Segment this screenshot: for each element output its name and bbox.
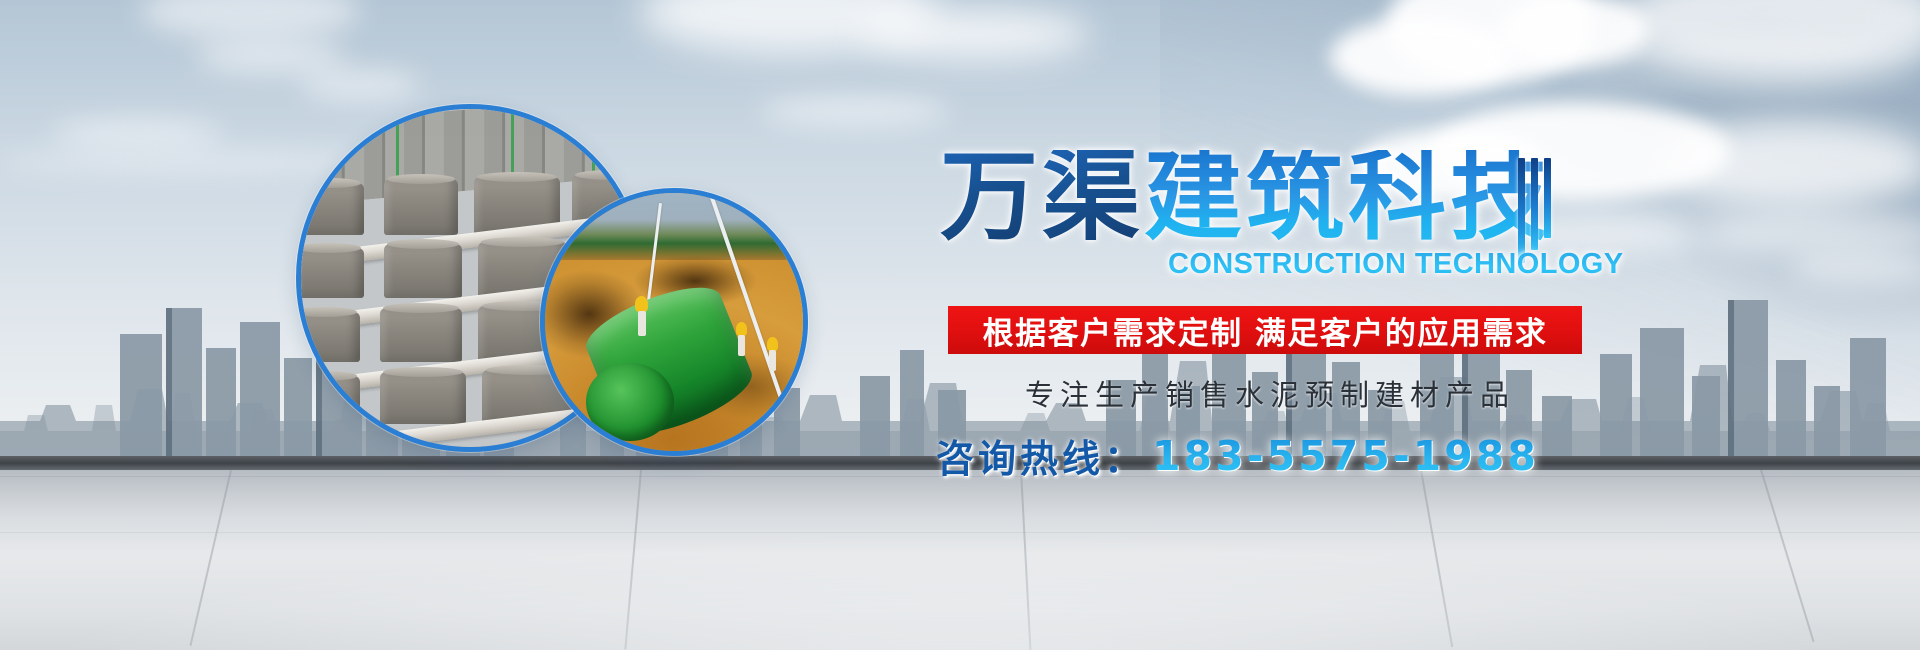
- promo-banner: 万 渠 建 筑 科 技 CONSTRUCTION TECHNOLOGY 根据客户…: [0, 0, 1920, 650]
- tank-end-cap: [586, 363, 674, 440]
- red-highlight-banner: 根据客户需求定制 满足客户的应用需求: [948, 306, 1582, 354]
- title-char-2: 渠: [1040, 150, 1142, 244]
- hotline-number[interactable]: 183-5575-1988: [1152, 432, 1539, 480]
- red-banner-text: 根据客户需求定制 满足客户的应用需求: [983, 308, 1548, 353]
- worker-right-b: [767, 337, 778, 371]
- title-char-1: 万: [938, 150, 1040, 244]
- photo-circle-installation[interactable]: [540, 188, 808, 456]
- hotline-block: 咨询热线： 183-5575-1988: [936, 428, 1539, 483]
- brand-title: 万 渠 建 筑 科 技: [938, 150, 1550, 244]
- title-char-3: 建: [1142, 150, 1244, 244]
- worker-on-tank: [635, 296, 648, 336]
- title-char-4: 筑: [1244, 150, 1346, 244]
- title-char-5: 科: [1346, 150, 1448, 244]
- worker-top-left: [566, 203, 576, 233]
- banner-content: 万 渠 建 筑 科 技 CONSTRUCTION TECHNOLOGY 根据客户…: [0, 0, 1920, 650]
- worker-right-a: [736, 322, 747, 356]
- hotline-label: 咨询热线：: [936, 428, 1146, 483]
- construction-site-background: [545, 193, 803, 260]
- brand-subtitle-en: CONSTRUCTION TECHNOLOGY: [1168, 248, 1623, 281]
- tagline-text: 专注生产销售水泥预制建材产品: [990, 372, 1550, 414]
- septic-tank-install-image: [545, 193, 803, 451]
